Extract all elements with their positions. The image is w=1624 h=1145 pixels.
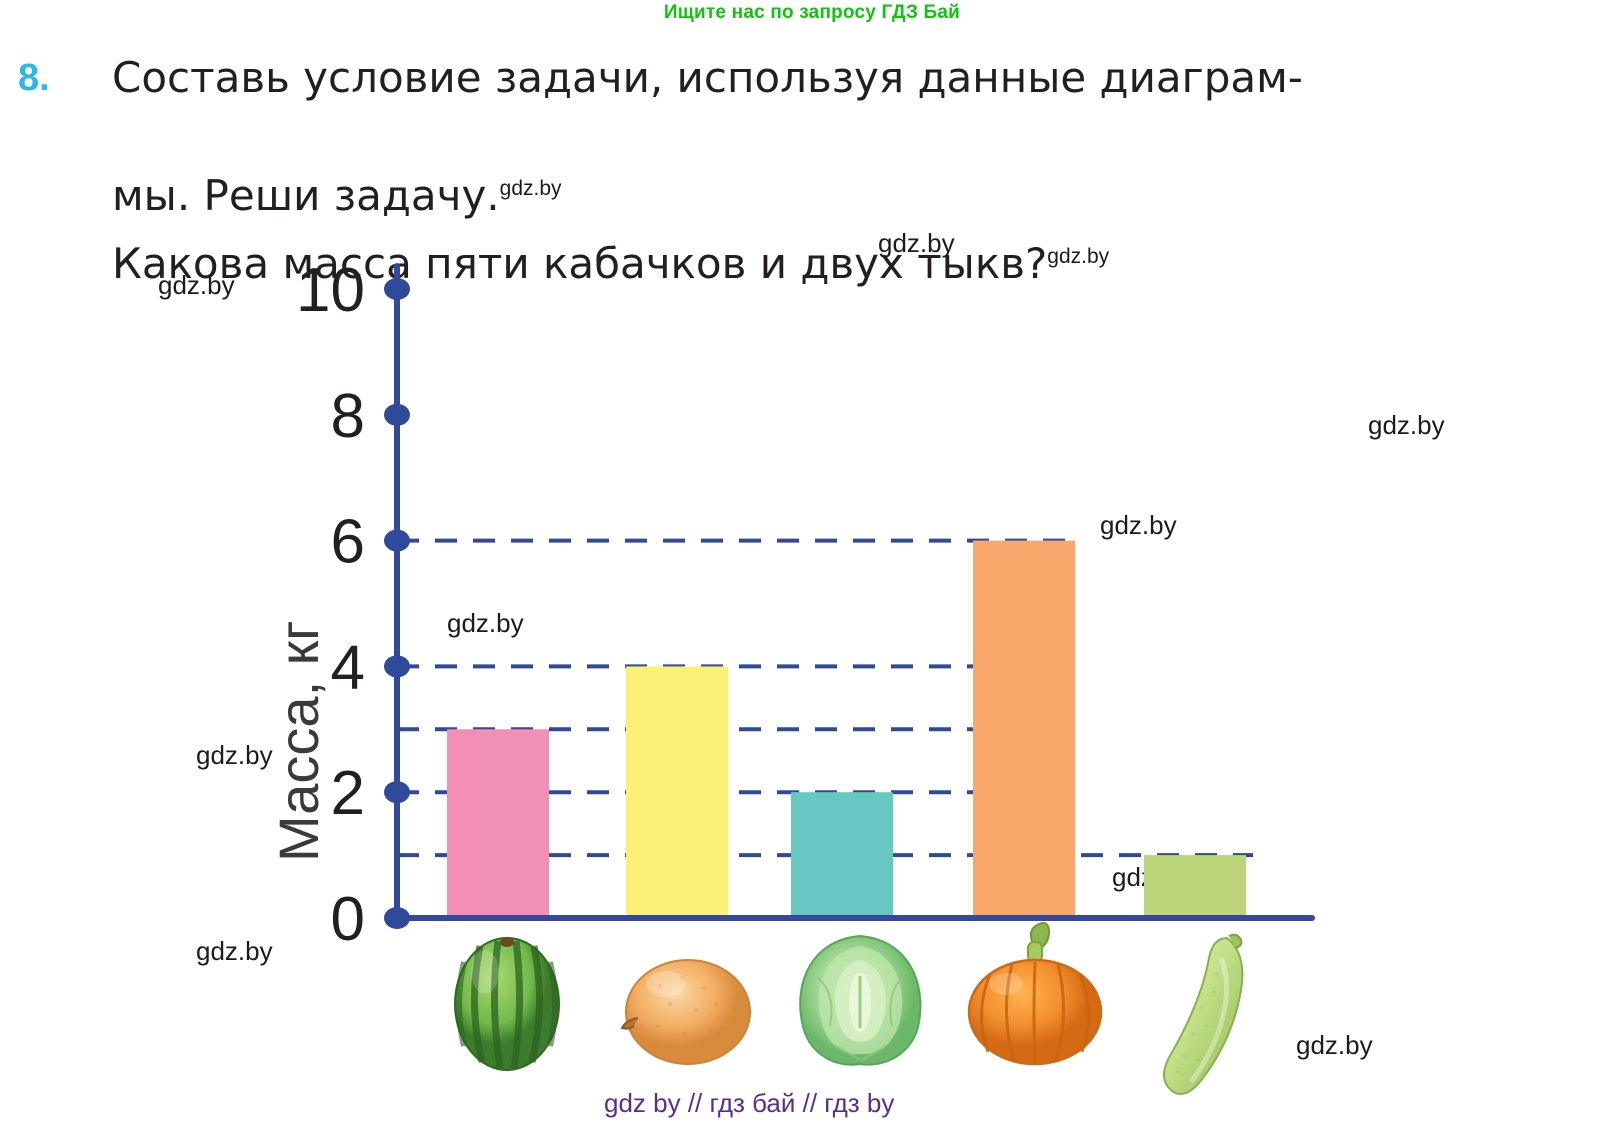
task-line-2-text: мы. Реши задачу.: [112, 171, 500, 220]
category-icon-melon-icon: [608, 952, 758, 1077]
bar-cabbage: [791, 792, 893, 918]
y-tick-dot-6: [384, 530, 410, 552]
watermark-text: gdz.by: [158, 270, 235, 301]
task-line-1: Составь условие задачи, используя данные…: [112, 52, 1572, 104]
watermark-inline-2: gdz.by: [1047, 245, 1109, 268]
watermark-text: gdz.by: [467, 780, 544, 811]
category-icon-cabbage-icon: [788, 930, 933, 1075]
category-icon-watermelon-icon: [440, 932, 575, 1077]
y-tick-dot-2: [384, 781, 410, 803]
bar-pumpkin: [973, 541, 1075, 918]
watermark-text: gdz.by: [196, 740, 273, 771]
watermark-text: gdz.by: [447, 608, 524, 639]
y-tick-label-8: 8: [331, 382, 365, 451]
bar-watermelon: [447, 729, 549, 918]
y-tick-label-4: 4: [331, 633, 365, 702]
bar-melon: [626, 666, 728, 918]
y-tick-label-6: 6: [331, 508, 365, 577]
watermark-inline-1: gdz.by: [500, 177, 562, 200]
category-icon-zucchini-icon: [1155, 930, 1265, 1105]
y-tick-dot-4: [384, 655, 410, 677]
task-line-3: Какова масса пяти кабачков и двух тыкв?g…: [112, 238, 1109, 290]
y-axis-title: Масса, кг: [267, 620, 330, 862]
task-number: 8.: [18, 57, 50, 100]
category-icon-pumpkin-icon: [962, 920, 1112, 1075]
footer-watermark: gdz by // гдз бай // гдз by: [604, 1088, 894, 1119]
watermark-text: gdz.by: [1112, 862, 1189, 893]
watermark-text: gdz.by: [1296, 1030, 1373, 1061]
watermark-text: gdz.by: [196, 936, 273, 967]
y-tick-dot-8: [384, 404, 410, 426]
watermark-text: gdz.by: [878, 228, 955, 259]
site-banner: Ищите нас по запросу ГДЗ Бай: [0, 2, 1624, 24]
task-line-2: мы. Реши задачу.gdz.by: [112, 170, 562, 222]
y-tick-dot-0: [384, 907, 410, 929]
y-tick-label-2: 2: [331, 759, 365, 828]
y-tick-label-0: 0: [331, 885, 365, 954]
y-axis-ticks: 0246810: [296, 256, 410, 954]
watermark-text: gdz.by: [1100, 510, 1177, 541]
watermark-text: gdz.by: [1368, 410, 1445, 441]
